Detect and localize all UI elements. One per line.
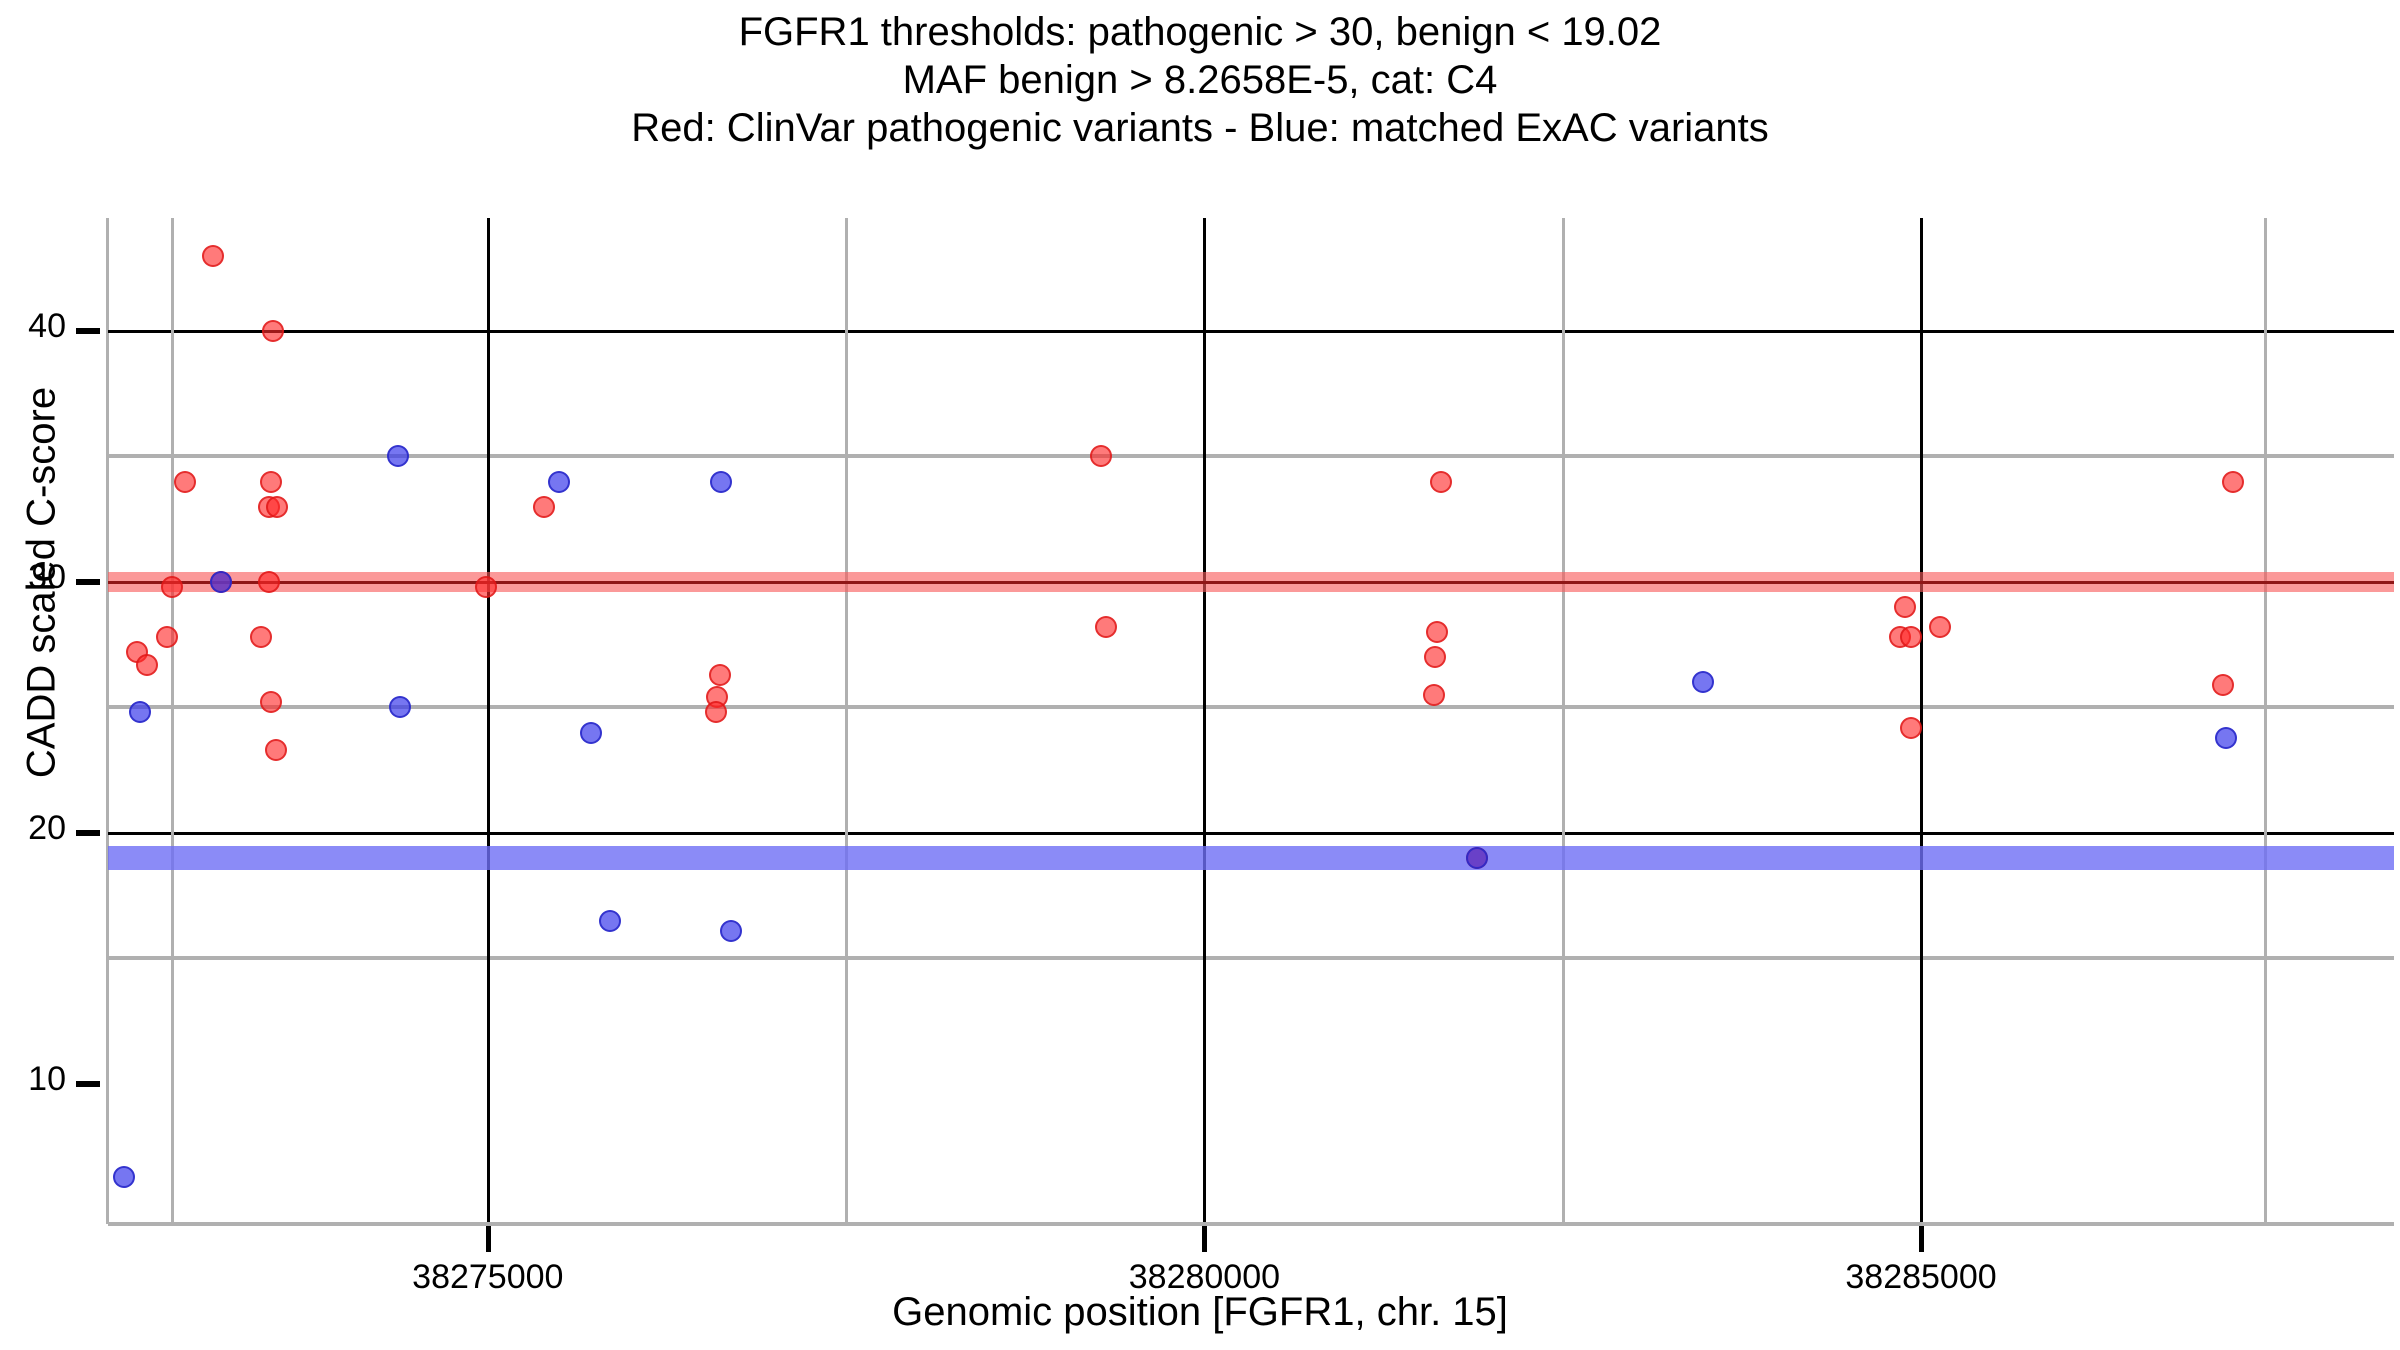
x-axis-title: Genomic position [FGFR1, chr. 15] — [0, 1290, 2400, 1335]
x-axis-tick — [486, 1226, 491, 1252]
x-axis: 382750003828000038285000 — [0, 0, 2400, 1350]
x-axis-tick — [1202, 1226, 1207, 1252]
figure-canvas: FGFR1 thresholds: pathogenic > 30, benig… — [0, 0, 2400, 1350]
y-axis-title: CADD scaled C-score — [20, 203, 65, 963]
x-axis-tick — [1919, 1226, 1924, 1252]
